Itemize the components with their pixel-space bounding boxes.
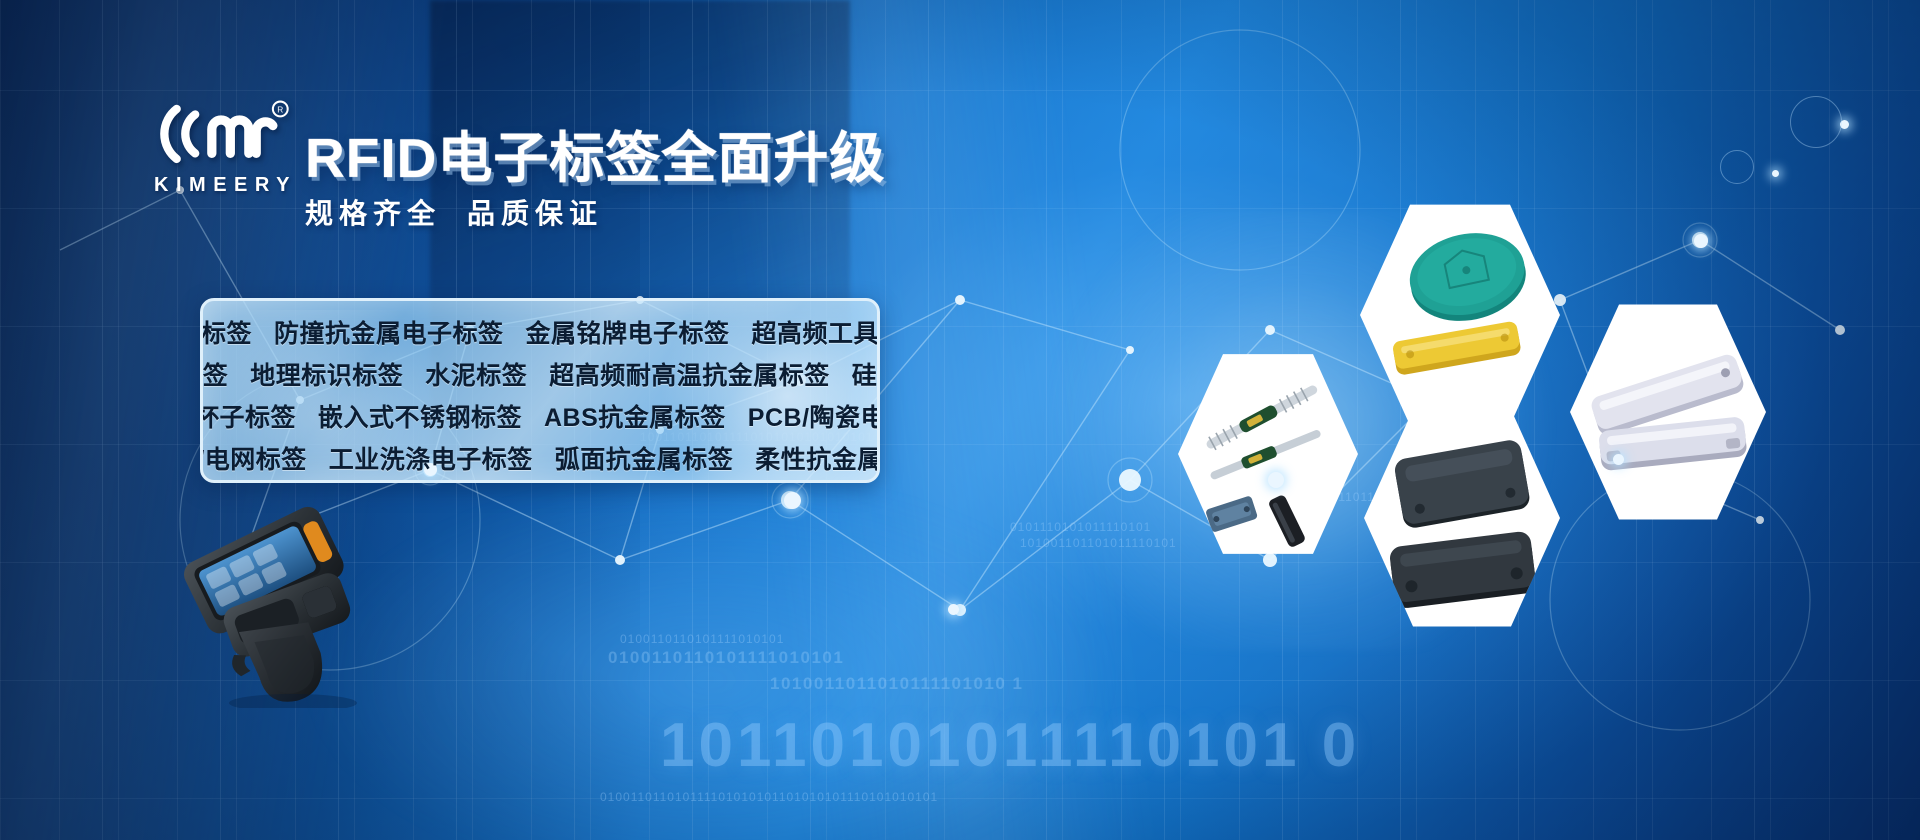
list-item[interactable]: 金属铭牌电子标签 [526,314,730,350]
list-item[interactable]: 螺丝标签 [200,356,228,392]
list-item[interactable]: 水泥标签 [425,356,527,392]
table-row: 螺丝标签 地理标识标签 水泥标签 超高频耐高温抗金属标签 硅胶腕带 [203,353,877,395]
decorative-ring [1790,96,1842,148]
list-item[interactable]: 嵌入式不锈钢标签 [318,398,522,434]
table-row: 轮胎标签 防撞抗金属电子标签 金属铭牌电子标签 超高频工具标签 [203,311,877,353]
table-row: 托盘/电网标签 工业洗涤电子标签 弧面抗金属标签 柔性抗金属标签 [203,437,877,479]
list-item[interactable]: 超高频杯子标签 [200,398,296,434]
binary-decoration-2: 0100110110101111010101 [608,648,844,668]
list-item[interactable]: 防撞抗金属电子标签 [274,314,504,350]
glow-dot [1694,234,1708,248]
binary-decoration-4: 0100110110101111010101011010101011101010… [600,790,938,804]
list-item[interactable]: 柔性抗金属标签 [755,440,880,476]
binary-decoration-1: 0100110110101111010101 [620,632,784,646]
decorative-ring [1720,150,1754,184]
brand-wordmark: KIMEERY [147,174,297,197]
list-item[interactable]: 托盘/电网标签 [200,440,307,476]
glow-dot [948,604,959,615]
page-subtitle: 规格齐全品质保证 [305,192,603,232]
list-item[interactable]: 轮胎标签 [200,314,252,350]
list-item[interactable]: 超高频耐高温抗金属标签 [549,356,830,392]
list-item[interactable]: ABS抗金属标签 [544,398,726,434]
svg-text:R: R [277,105,283,115]
subtitle-right: 品质保证 [467,198,603,229]
page-title: RFID电子标签全面升级 [305,113,885,193]
binary-decoration-6: 101001101101011110101 [1020,536,1177,550]
glow-dot [1772,170,1779,177]
glow-dot [1268,472,1284,488]
list-item[interactable]: PCB/陶瓷电子标签 [748,398,880,434]
list-item[interactable]: 超高频工具标签 [752,314,880,350]
glow-dot [784,492,801,509]
list-item[interactable]: 硅胶腕带 [852,356,880,392]
list-item[interactable]: 工业洗涤电子标签 [329,440,533,476]
subtitle-left: 规格齐全 [305,198,441,229]
product-list-panel: 轮胎标签 防撞抗金属电子标签 金属铭牌电子标签 超高频工具标签 螺丝标签 地理标… [200,298,880,483]
banner-root: 0100110110101111010101 01001101101011110… [0,0,1920,840]
binary-decoration-big: 10110101011110101 0 [660,710,1360,781]
brand-logo: R KIMEERY [146,96,298,204]
kimeery-wave-logo-icon: R [152,96,292,170]
binary-decoration-5: 0101110101011110101 [1010,520,1151,534]
binary-decoration-3: 1010011011010111101010 1 [770,674,1024,694]
rfid-handheld-reader[interactable] [165,498,375,688]
glow-dot [1613,454,1624,465]
list-item[interactable]: 弧面抗金属标签 [555,440,734,476]
list-item[interactable]: 地理标识标签 [250,356,403,392]
rfid-handheld-reader-image [165,498,395,708]
table-row: 超高频杯子标签 嵌入式不锈钢标签 ABS抗金属标签 PCB/陶瓷电子标签 [203,395,877,437]
